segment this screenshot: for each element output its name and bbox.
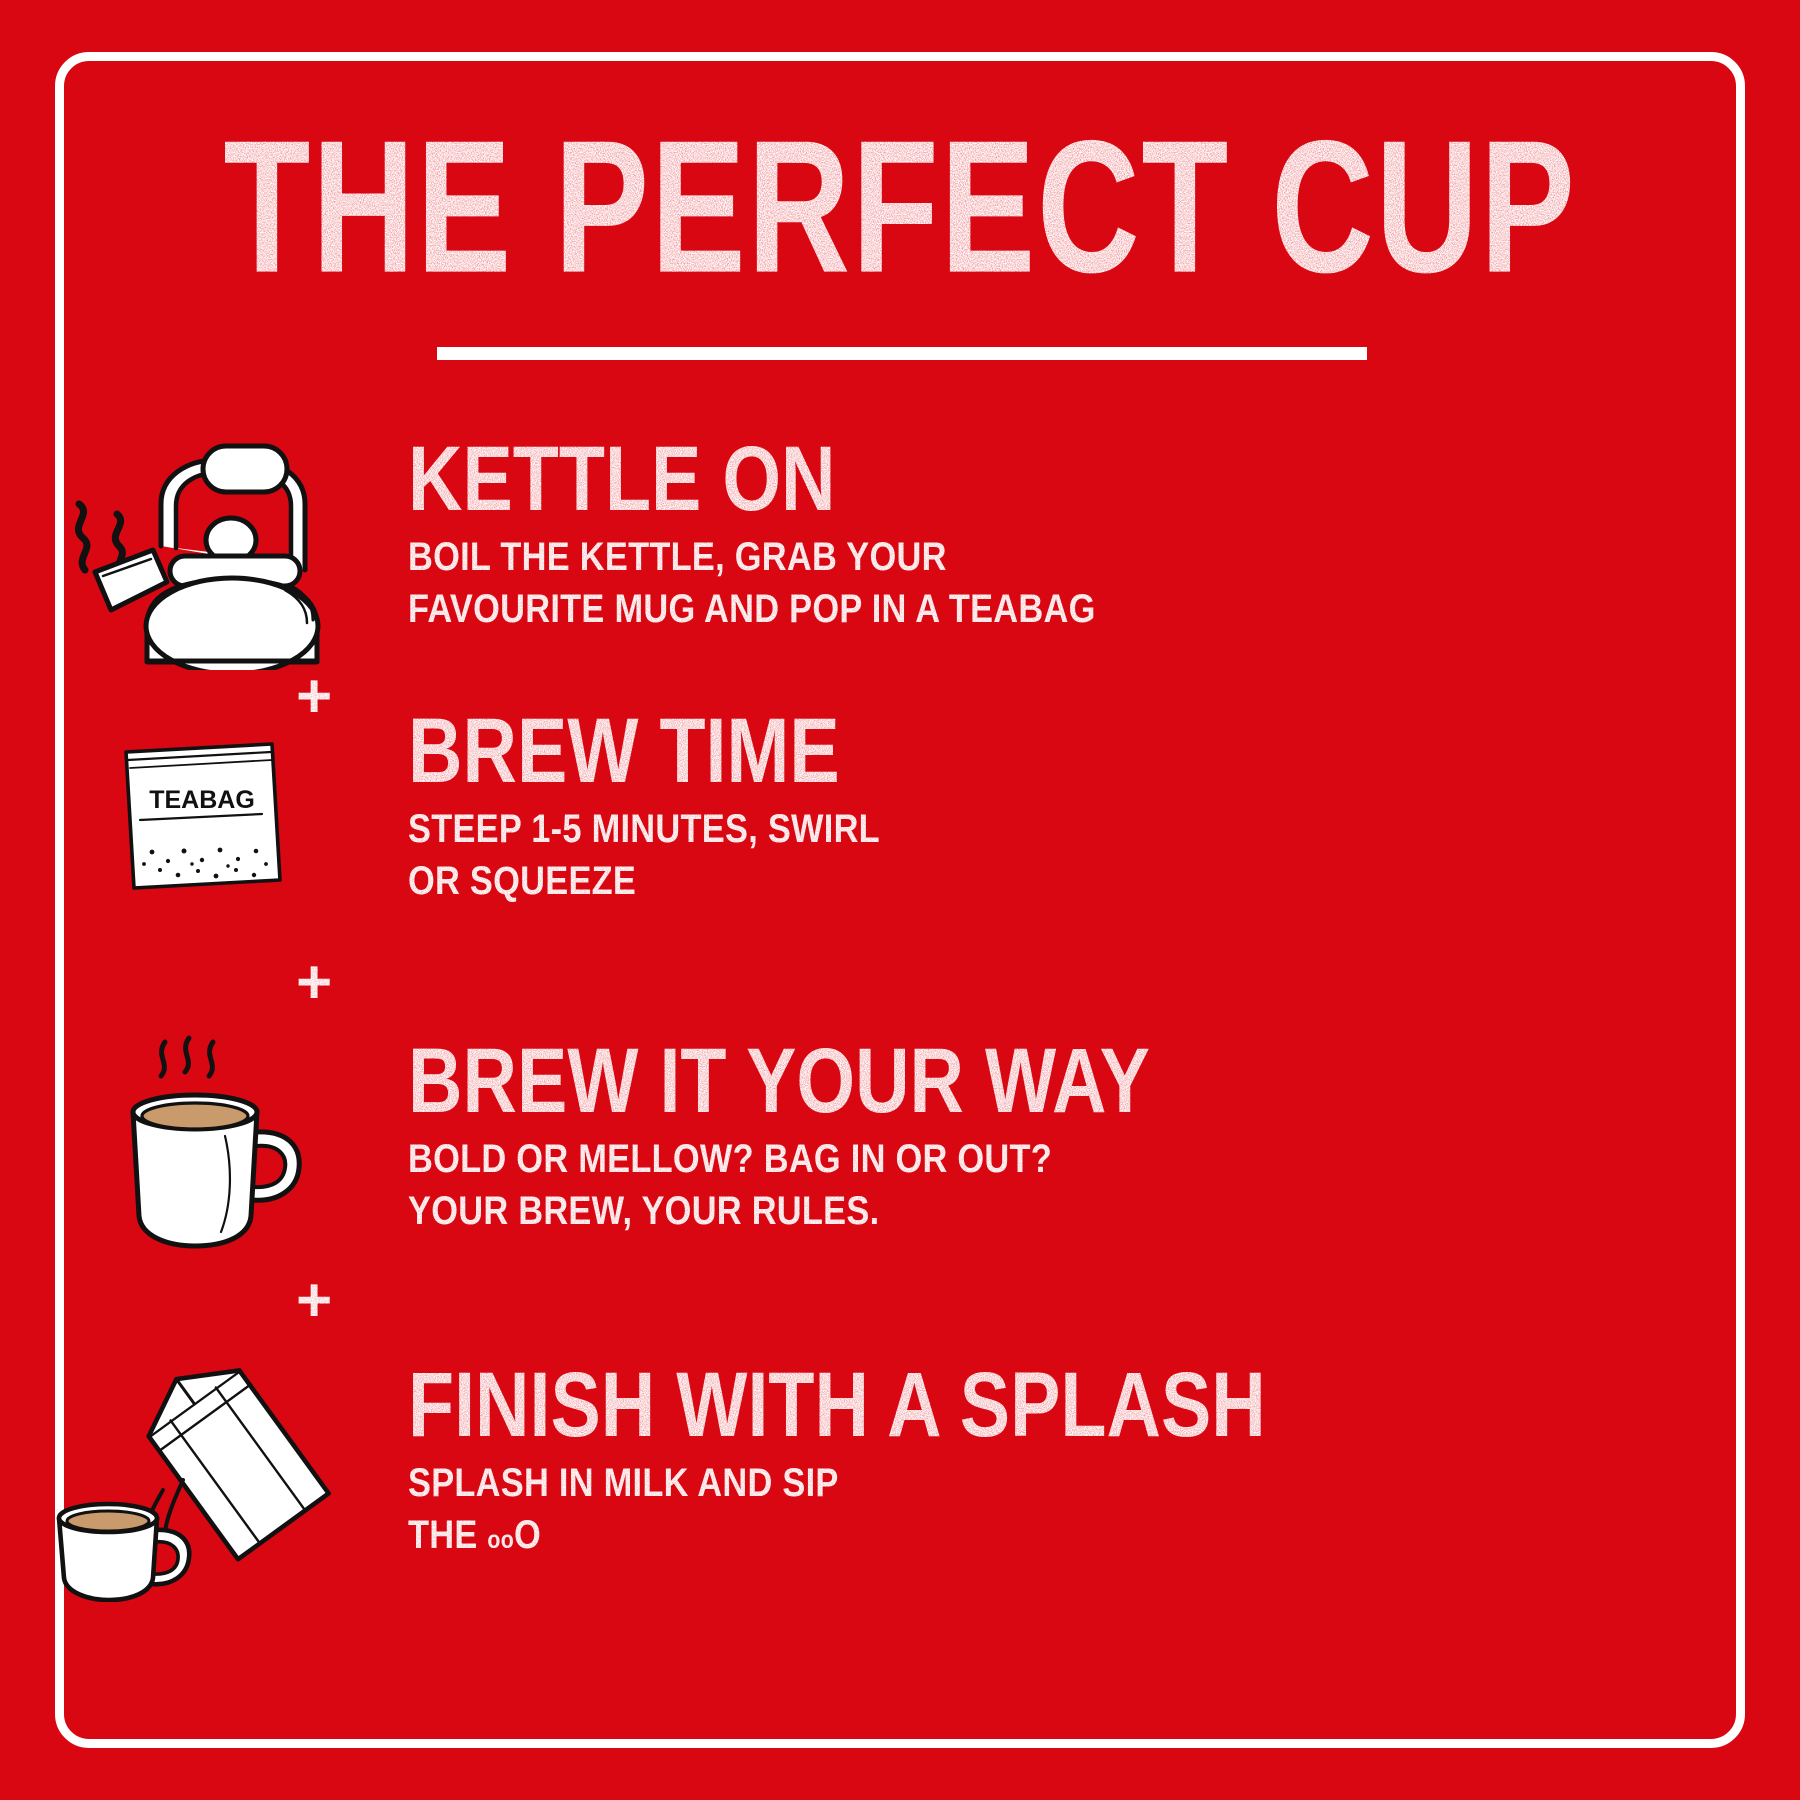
step-heading: BREW TIME [408, 708, 858, 794]
page-title: THE PERFECT CUP [180, 120, 1620, 294]
title-divider-rule [437, 347, 1367, 360]
steaming-mug-icon [75, 1020, 325, 1270]
step-illustration-slot [0, 1020, 400, 1270]
step-copy: KETTLE ON BOIL THE KETTLE, GRAB YOUR FAV… [400, 430, 1208, 635]
ooo-small-o: o [487, 1527, 500, 1554]
step-finish-with-a-splash: FINISH WITH A SPLASH SPLASH IN MILK AND … [0, 1352, 1800, 1652]
step-brew-it-your-way: BREW IT YOUR WAY BOLD OR MELLOW? BAG IN … [0, 1020, 1800, 1310]
step-body-line: FAVOURITE MUG AND POP IN A TEABAG [408, 584, 1096, 635]
title-block: THE PERFECT CUP [0, 120, 1800, 284]
step-heading: KETTLE ON [408, 436, 1064, 522]
kettle-icon [35, 430, 365, 670]
step-illustration-slot: TEABAG [0, 708, 400, 895]
step-body-line: OR SQUEEZE [408, 856, 880, 907]
step-body-line: BOIL THE KETTLE, GRAB YOUR [408, 532, 1096, 583]
step-heading: BREW IT YOUR WAY [408, 1038, 1150, 1124]
step-body-line: STEEP 1-5 MINUTES, SWIRL [408, 804, 880, 855]
step-copy: FINISH WITH A SPLASH SPLASH IN MILK AND … [400, 1352, 1454, 1561]
step-copy: BREW IT YOUR WAY BOLD OR MELLOW? BAG IN … [400, 1020, 1313, 1237]
step-body-line: BOLD OR MELLOW? BAG IN OR OUT? [408, 1134, 1186, 1185]
step-brew-time: TEABAG BREW TIME STEEP 1-5 MINUTES, SWIR… [0, 708, 1800, 978]
step-copy: BREW TIME STEEP 1-5 MINUTES, SWIRL OR SQ… [400, 708, 957, 907]
teabag-icon: TEABAG [110, 730, 290, 895]
plus-separator: + [296, 1270, 332, 1332]
step-body-line-ooo: THE ooO [408, 1510, 1308, 1561]
step-heading: FINISH WITH A SPLASH [408, 1362, 1266, 1448]
poster-canvas: THE PERFECT CUP [0, 0, 1800, 1800]
ooo-large-o: O [514, 1513, 541, 1557]
step-body-line: YOUR BREW, YOUR RULES. [408, 1186, 1186, 1237]
ooo-prefix: THE [408, 1513, 487, 1557]
step-illustration-slot [0, 1352, 400, 1602]
step-body-line: SPLASH IN MILK AND SIP [408, 1458, 1308, 1509]
teabag-label: TEABAG [149, 786, 255, 814]
step-illustration-slot [0, 430, 400, 670]
ooo-mid-o: o [501, 1527, 514, 1554]
steps-list: KETTLE ON BOIL THE KETTLE, GRAB YOUR FAV… [0, 430, 1800, 1652]
step-kettle-on: KETTLE ON BOIL THE KETTLE, GRAB YOUR FAV… [0, 430, 1800, 690]
milk-pour-icon [35, 1352, 365, 1602]
plus-separator: + [296, 952, 332, 1014]
